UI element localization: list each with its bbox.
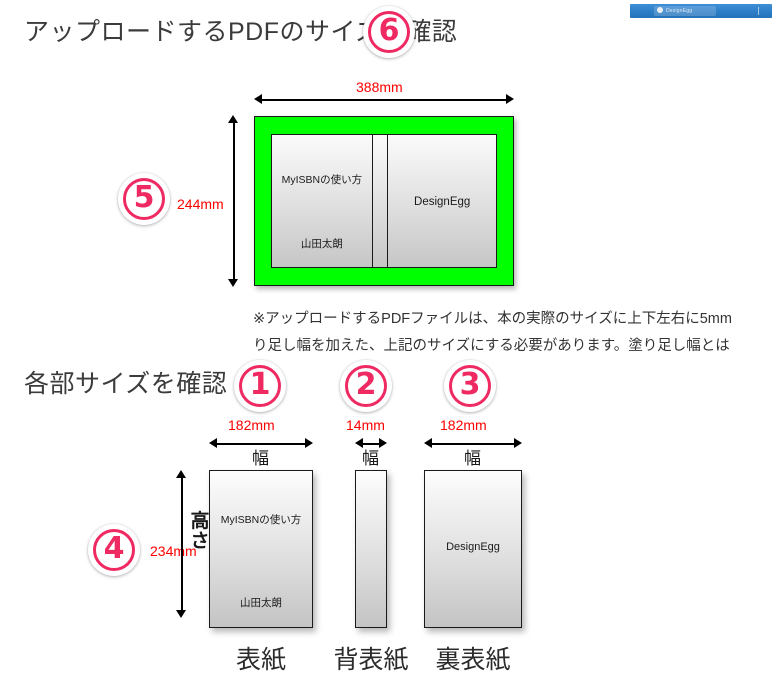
cover-pane-front: DesignEgg xyxy=(387,135,496,267)
height-label-char-2: さ xyxy=(190,532,210,552)
dimension-label-back-width: 182mm xyxy=(440,418,487,432)
width-arrow-total xyxy=(254,94,514,105)
width-label-spine: 幅 xyxy=(362,450,379,467)
arrow-head-right-icon xyxy=(506,94,514,104)
part-front-title: MyISBNの使い方 xyxy=(210,512,312,527)
step-badge-4: 4 xyxy=(88,524,140,576)
caption-spine: 背表紙 xyxy=(330,648,412,673)
width-label-front: 幅 xyxy=(252,450,269,467)
arrow-line xyxy=(214,443,308,445)
step-badge-3-label: 3 xyxy=(460,370,481,400)
step-badge-6: 6 xyxy=(363,6,415,58)
arrow-line xyxy=(181,475,183,613)
height-arrow-part xyxy=(176,470,187,618)
part-panel-back-cover: DesignEgg xyxy=(424,470,522,628)
step-badge-6-label: 6 xyxy=(379,16,400,46)
bleed-note-text: ※アップロードするPDFファイルは、本の実際のサイズに上下左右に5mm り足し幅… xyxy=(253,306,772,360)
cover-back-author: 山田太朗 xyxy=(272,236,372,251)
step-badge-2-label: 2 xyxy=(356,370,377,400)
cover-with-bleed-diagram: MyISBNの使い方 山田太朗 DesignEgg xyxy=(254,116,514,286)
dimension-label-front-width: 182mm xyxy=(228,418,275,432)
height-label-char-1: 高 xyxy=(190,512,210,532)
bleed-note-line-2: り足し幅を加えた、上記のサイズにする必要があります。塗り足し幅とは xyxy=(253,333,772,360)
width-arrow-front xyxy=(209,438,313,449)
width-label-back: 幅 xyxy=(464,450,481,467)
step-badge-5-label: 5 xyxy=(134,183,155,213)
dimension-label-total-width: 388mm xyxy=(356,80,403,94)
height-arrow-total xyxy=(228,115,239,287)
caption-front-cover: 表紙 xyxy=(209,648,313,673)
arrow-line xyxy=(259,99,509,101)
dimension-label-total-height: 244mm xyxy=(177,197,224,211)
cover-pane-spine xyxy=(372,135,388,267)
caption-back-cover: 裏表紙 xyxy=(424,648,522,673)
arrow-head-right-icon xyxy=(305,438,313,448)
bleed-note-line-1: ※アップロードするPDFファイルは、本の実際のサイズに上下左右に5mm xyxy=(253,306,772,333)
arrow-line xyxy=(429,443,517,445)
height-label-vertical: 高 さ xyxy=(190,512,210,552)
browser-window-strip[interactable]: DesignEgg xyxy=(630,4,772,18)
step-badge-1-label: 1 xyxy=(250,370,271,400)
arrow-head-down-icon xyxy=(176,610,186,618)
width-arrow-back xyxy=(424,438,522,449)
cover-trim-area: MyISBNの使い方 山田太朗 DesignEgg xyxy=(271,134,497,268)
page-title-part-sizes: 各部サイズを確認 xyxy=(24,372,227,397)
part-panel-front-cover: MyISBNの使い方 山田太朗 xyxy=(209,470,313,628)
arrow-line xyxy=(233,120,235,282)
step-badge-2: 2 xyxy=(340,360,392,412)
cover-back-title: MyISBNの使い方 xyxy=(272,172,372,187)
width-arrow-spine xyxy=(355,438,387,449)
part-panel-spine xyxy=(355,470,387,628)
part-front-author: 山田太朗 xyxy=(210,595,312,610)
dimension-label-spine-width: 14mm xyxy=(346,418,385,432)
cover-front-brand: DesignEgg xyxy=(388,196,496,208)
cover-pane-back: MyISBNの使い方 山田太朗 xyxy=(272,135,372,267)
step-badge-5: 5 xyxy=(118,173,170,225)
globe-icon xyxy=(657,7,663,13)
step-badge-3: 3 xyxy=(444,360,496,412)
part-back-brand: DesignEgg xyxy=(425,541,521,553)
step-badge-1: 1 xyxy=(234,360,286,412)
address-bar-caret xyxy=(758,7,759,15)
step-badge-4-label: 4 xyxy=(104,534,125,564)
arrow-head-right-icon xyxy=(379,438,387,448)
browser-tab-label: DesignEgg xyxy=(666,6,692,16)
arrow-head-right-icon xyxy=(514,438,522,448)
arrow-head-down-icon xyxy=(228,279,238,287)
